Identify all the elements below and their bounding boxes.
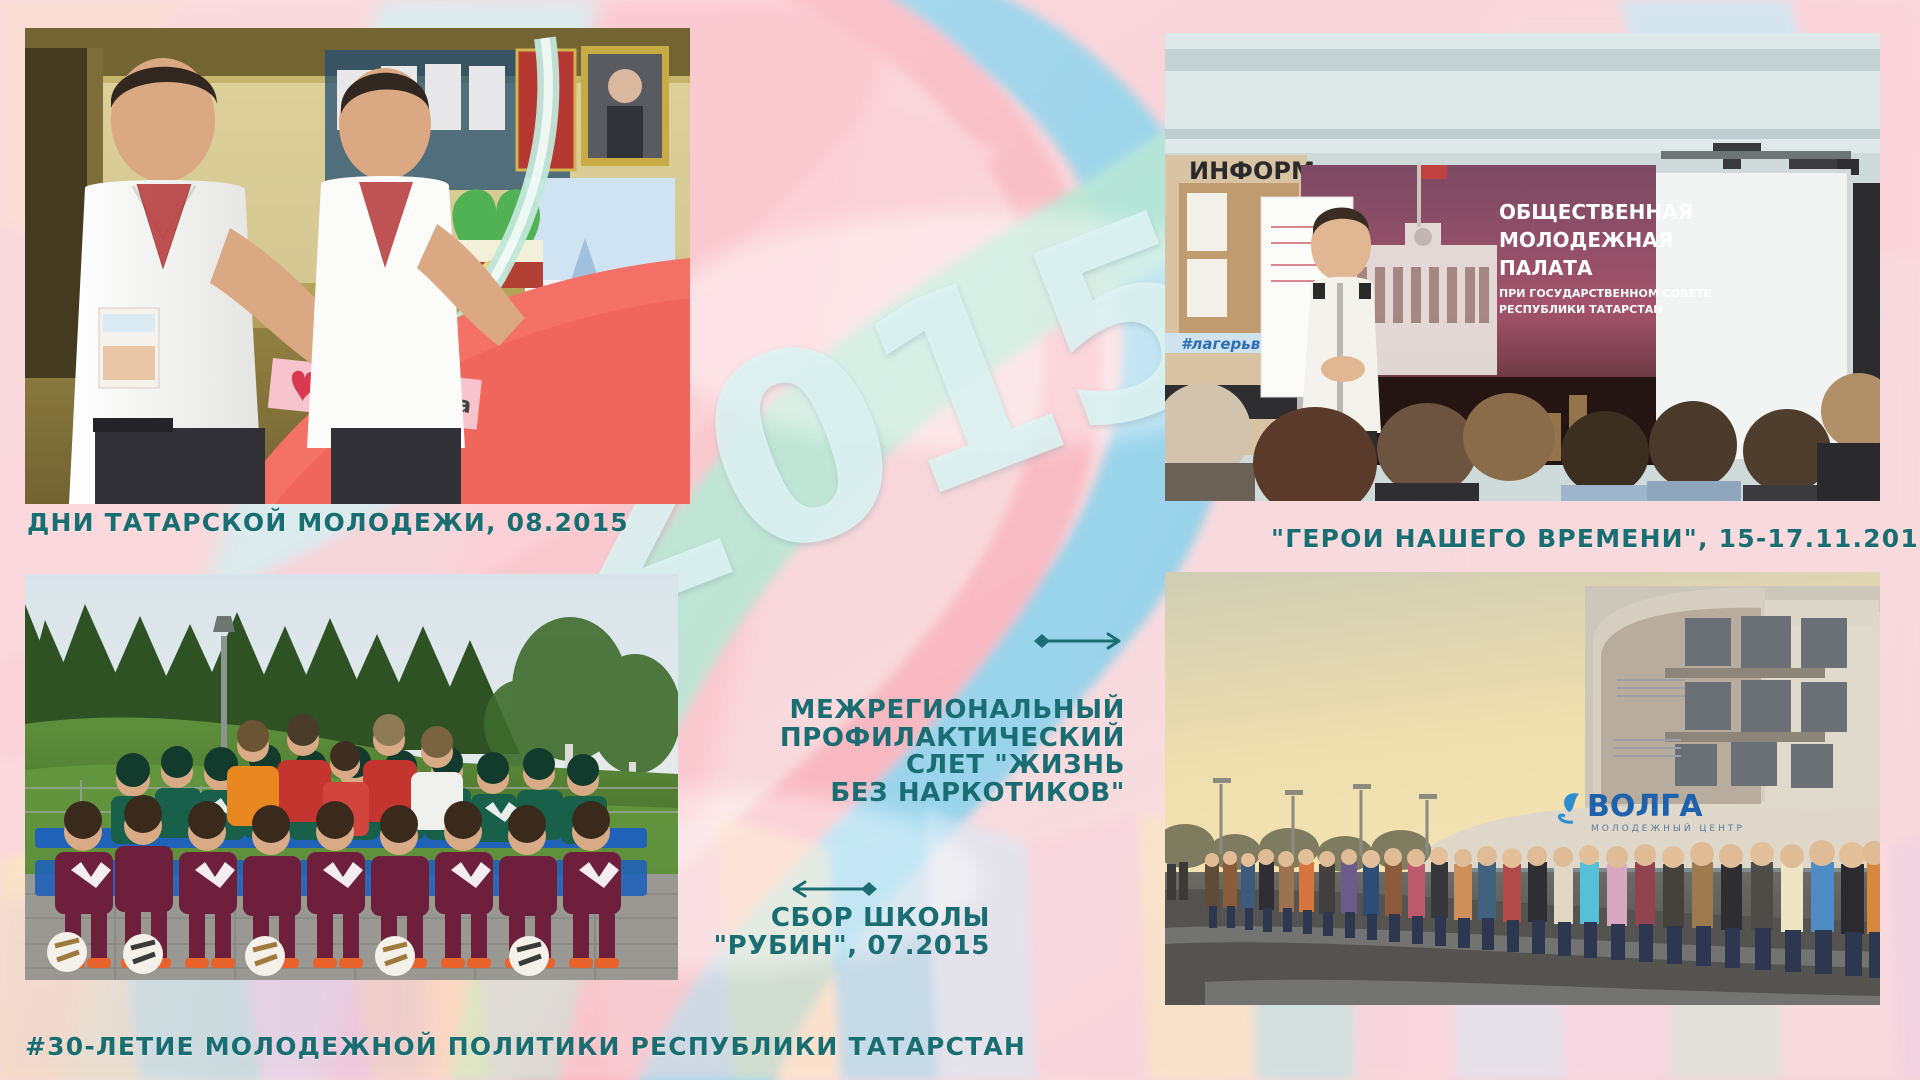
photo1-art: #мцволга [25, 28, 690, 504]
center-label-bottom-line2: "РУБИН", 07.2015 [700, 933, 990, 961]
photo2-art: #лагерьволга ИНФОРМ ОБЩЕСТВЕННА [1165, 33, 1880, 501]
photo-heroes-of-our-time: #лагерьволга ИНФОРМ ОБЩЕСТВЕННА [1165, 33, 1880, 501]
svg-text:ИНФОРМ: ИНФОРМ [1189, 157, 1315, 185]
svg-text:МОЛОДЕЖНЫЙ ЦЕНТР: МОЛОДЕЖНЫЙ ЦЕНТР [1591, 822, 1745, 834]
svg-text:ВОЛГА: ВОЛГА [1587, 789, 1703, 824]
center-label-rubin-school: СБОР ШКОЛЫ "РУБИН", 07.2015 [700, 905, 990, 960]
center-label-middle-line1: МЕЖРЕГИОНАЛЬНЫЙ [700, 697, 1125, 725]
svg-text:МОЛОДЕЖНАЯ: МОЛОДЕЖНАЯ [1499, 228, 1673, 252]
photo-volga-youth-center-gathering: ВОЛГА МОЛОДЕЖНЫЙ ЦЕНТР [1165, 572, 1880, 1005]
photo3-art [25, 574, 678, 980]
svg-text:ПАЛАТА: ПАЛАТА [1499, 256, 1593, 280]
photo-tatar-youth-days: #мцволга [25, 28, 690, 504]
svg-text:ПРИ ГОСУДАРСТВЕННОМ СОВЕТЕ: ПРИ ГОСУДАРСТВЕННОМ СОВЕТЕ [1499, 287, 1711, 300]
photo4-art: ВОЛГА МОЛОДЕЖНЫЙ ЦЕНТР [1165, 572, 1880, 1005]
svg-text:ОБЩЕСТВЕННАЯ: ОБЩЕСТВЕННАЯ [1499, 200, 1693, 224]
center-label-bottom-line1: СБОР ШКОЛЫ [700, 905, 990, 933]
caption-photo3: #30-ЛЕТИЕ МОЛОДЕЖНОЙ ПОЛИТИКИ РЕСПУБЛИКИ… [25, 1032, 1026, 1061]
caption-photo2: "ГЕРОИ НАШЕГО ВРЕМЕНИ", 15-17.11.2015 [1271, 524, 1920, 553]
arrow-right-icon [1022, 628, 1126, 659]
center-label-middle-line4: БЕЗ НАРКОТИКОВ" [700, 780, 1125, 808]
arrow-right-svg [1022, 628, 1126, 654]
svg-text:РЕСПУБЛИКИ ТАТАРСТАН: РЕСПУБЛИКИ ТАТАРСТАН [1499, 303, 1662, 316]
caption-photo1: ДНИ ТАТАРСКОЙ МОЛОДЕЖИ, 08.2015 [27, 508, 629, 537]
center-label-antidrug-meeting: МЕЖРЕГИОНАЛЬНЫЙ ПРОФИЛАКТИЧЕСКИЙ СЛЕТ "Ж… [700, 697, 1125, 807]
photo-rubin-football-school [25, 574, 678, 980]
arrow-left-svg [785, 876, 889, 902]
center-label-middle-line2: ПРОФИЛАКТИЧЕСКИЙ [700, 725, 1125, 753]
center-label-middle-line3: СЛЕТ "ЖИЗНЬ [700, 752, 1125, 780]
arrow-left-icon [785, 876, 889, 907]
